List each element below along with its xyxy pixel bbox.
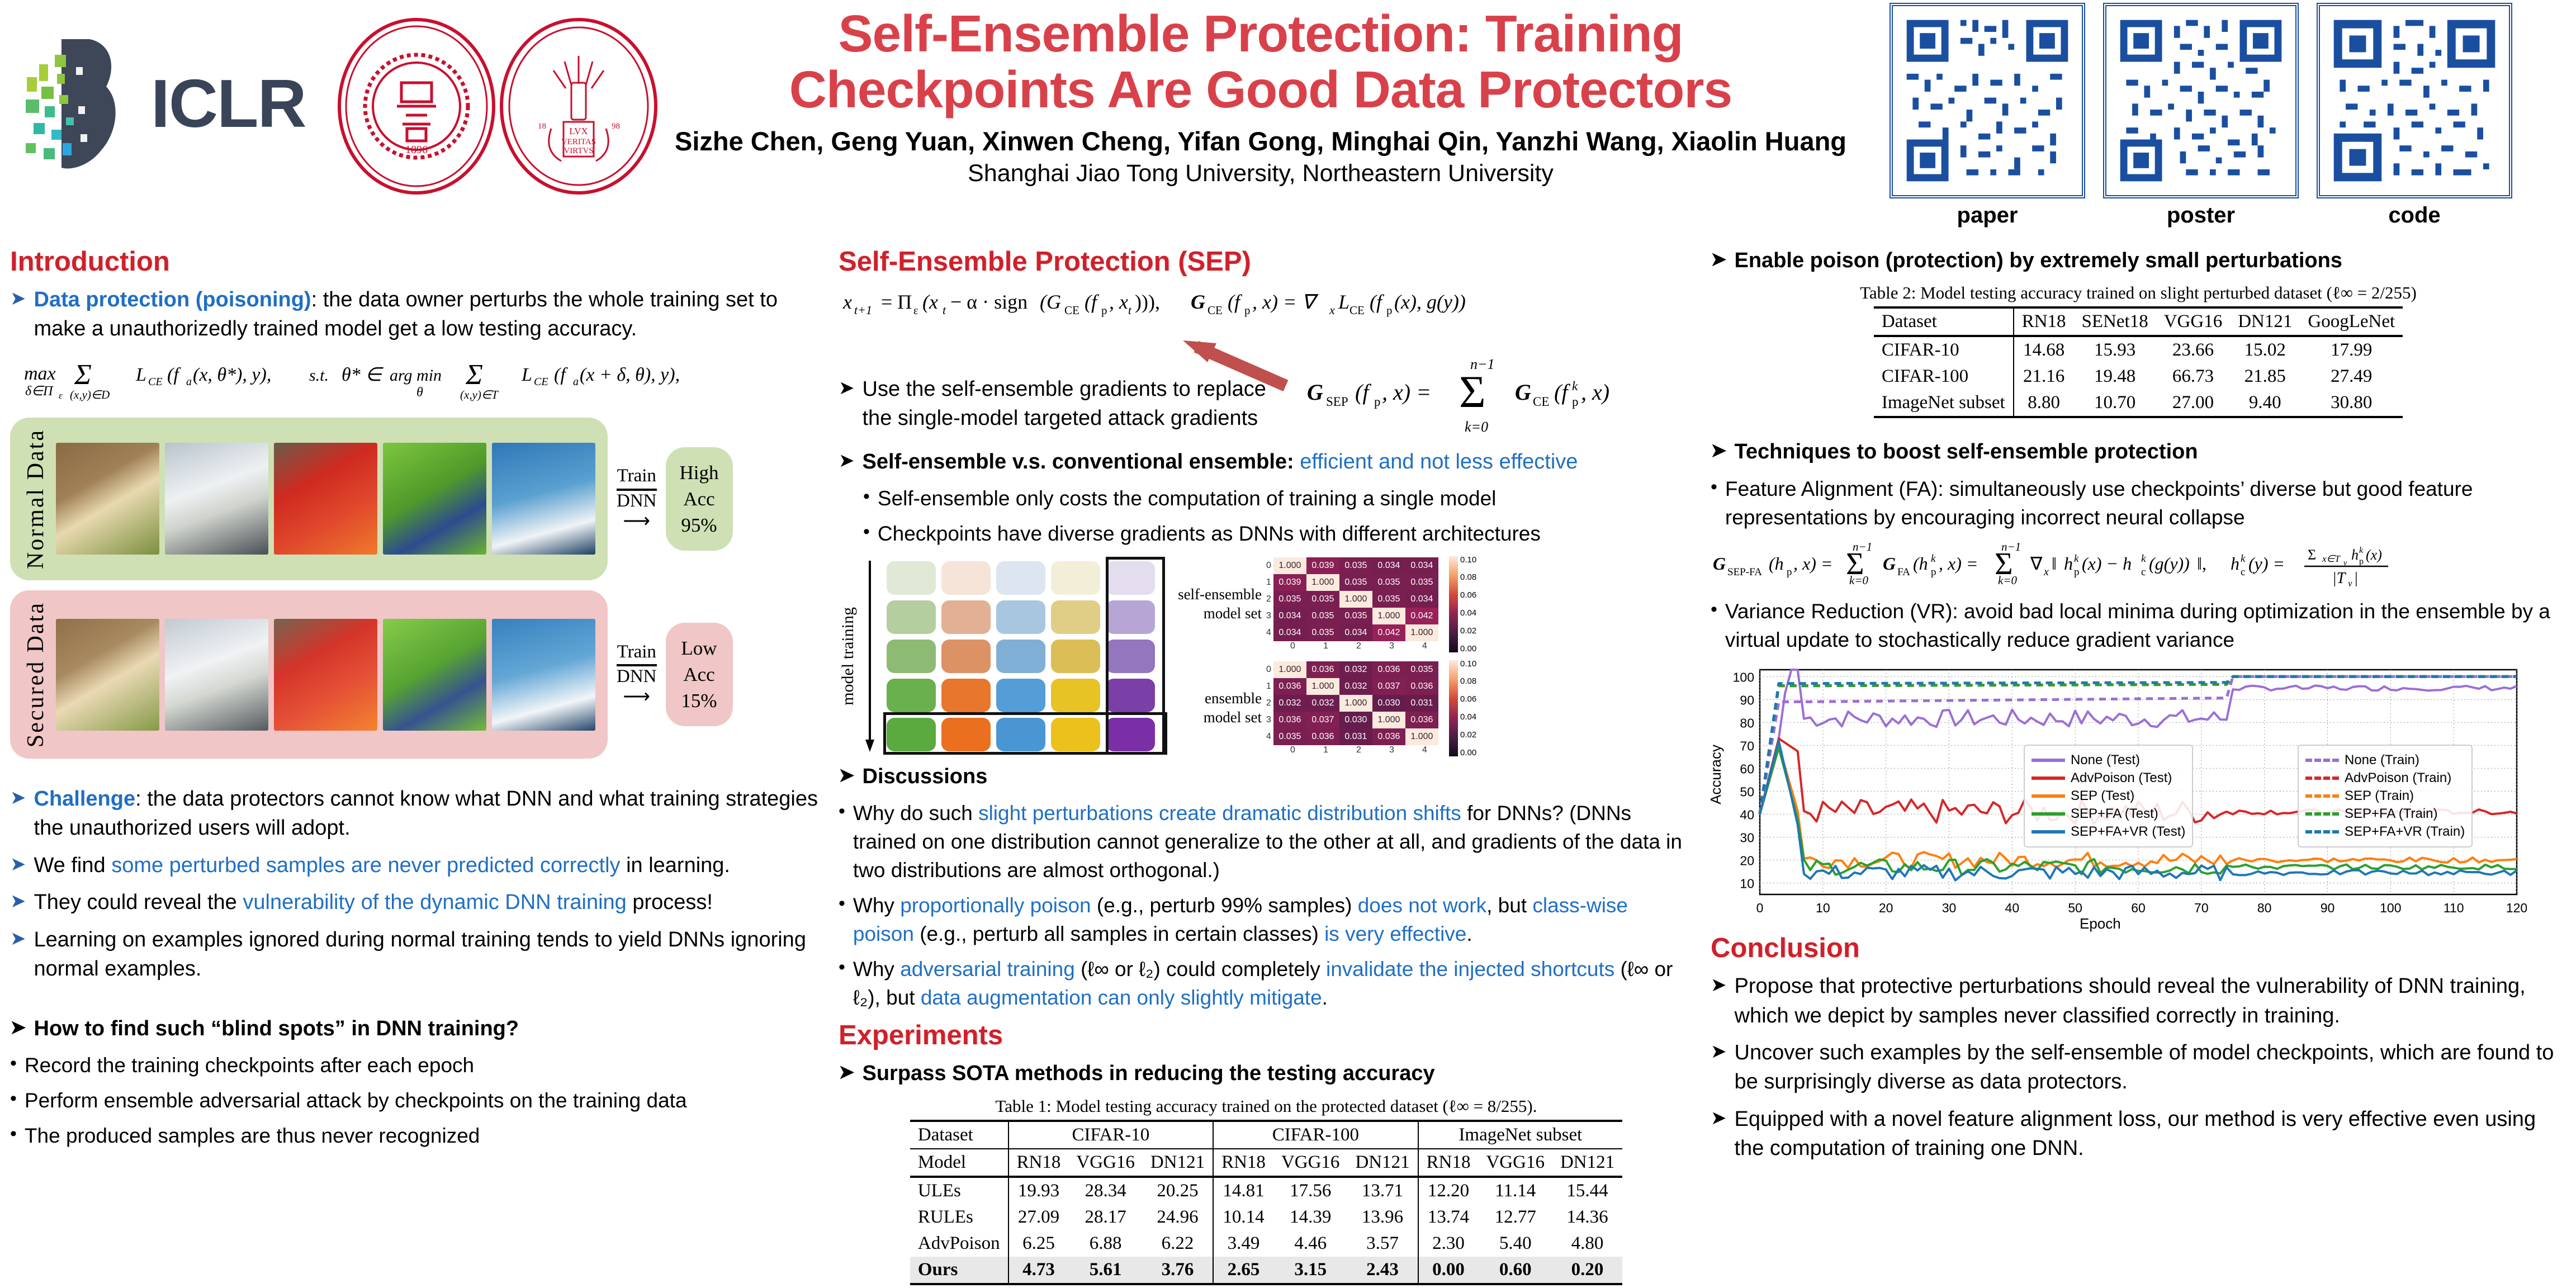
chart-xtick: 110	[2444, 901, 2464, 915]
legend-swatch	[2305, 830, 2339, 834]
table-cell: 66.73	[2156, 363, 2231, 390]
heatmap-2-colorbar-ticks: 0.100.080.060.040.020.00	[1460, 659, 1476, 757]
d2-blue1: proportionally poison	[900, 894, 1091, 917]
heatmap-cell: 0.032	[1339, 661, 1372, 678]
table-header-cell: DN121	[1552, 1149, 1622, 1177]
svg-text:k: k	[2074, 553, 2079, 565]
d3-blue3: data augmentation can only slightly miti…	[921, 986, 1322, 1009]
svg-text:(x,y)∈D: (x,y)∈D	[70, 388, 110, 401]
qr-code-poster[interactable]	[2103, 3, 2299, 198]
table-header-cell: RN18	[2014, 307, 2074, 336]
chart-xtick: 60	[2131, 901, 2146, 915]
heatmap-cell: 0.031	[1405, 695, 1438, 712]
table-cell: 27.49	[2300, 363, 2403, 390]
svg-text:, x): , x)	[1581, 380, 1609, 405]
heatmap-cell: 0.034	[1405, 557, 1438, 574]
vr-text: Variance Reduction (VR): avoid bad local…	[1725, 597, 2566, 654]
table-cell: 0.60	[1478, 1257, 1552, 1284]
conclusion-2: ➤ Uncover such examples by the self-ense…	[1711, 1038, 2566, 1097]
discussion-1: • Why do such slight perturbations creat…	[839, 799, 1694, 884]
table-cell: 23.66	[2156, 336, 2231, 363]
poster-header: ICLR 1896 LVX VERITAS VIRTVS 18 98 Self-…	[0, 0, 2576, 240]
chart-xtick: 70	[2194, 901, 2209, 915]
arrow-bullet-icon-9: ➤	[839, 762, 855, 789]
conclusion-1-text: Propose that protective perturbations sh…	[1735, 972, 2566, 1030]
svg-text:h: h	[2351, 547, 2359, 563]
thumb-truck-perturbed	[165, 619, 268, 731]
heatmap-ensemble-table: 1.0000.0360.0320.0360.0350.0361.0000.032…	[1273, 661, 1438, 745]
table-row: ImageNet subset8.8010.7027.009.4030.80	[1874, 390, 2403, 417]
heatmap-cell: 0.035	[1372, 591, 1405, 608]
bullet-self-vs-conventional: ➤ Self-ensemble v.s. conventional ensemb…	[839, 447, 1694, 476]
chart-xtick: 80	[2257, 901, 2272, 915]
svg-text:Σ: Σ	[74, 359, 92, 391]
heatmap-cell: 1.000	[1405, 624, 1438, 641]
dot-bullet-icon-7: •	[839, 891, 845, 916]
table-header-cell: ImageNet subset	[1418, 1121, 1623, 1149]
heatmap-row: 1.0000.0360.0320.0360.035	[1273, 661, 1438, 678]
chart-xtick: 90	[2321, 901, 2335, 915]
train-label-normal: Train	[617, 466, 657, 490]
svg-text:p: p	[1374, 395, 1381, 409]
use-gradients-text: Use the self-ensemble gradients to repla…	[863, 375, 1298, 433]
arrow-bullet-icon-5: ➤	[10, 925, 26, 953]
heatmap-cell: 0.034	[1339, 624, 1372, 641]
svg-text:VIRTVS: VIRTVS	[563, 146, 593, 155]
ck-cell	[887, 561, 936, 595]
acc-high-l1: High	[676, 460, 723, 486]
table-cell: 5.61	[1068, 1257, 1143, 1284]
table-cell: 13.96	[1347, 1204, 1418, 1230]
table-header-cell: GoogLeNet	[2300, 307, 2403, 336]
data-protection-term: Data protection (poisoning)	[34, 288, 311, 311]
heatmap-row: 0.0361.0000.0320.0370.036	[1273, 678, 1438, 695]
learning-text: Learning on examples ignored during norm…	[34, 925, 821, 984]
svg-text:p: p	[1931, 566, 1936, 578]
secured-data-row: Secured Data Train DNN ⟶ Low Acc 15%	[10, 590, 821, 759]
svg-text:CE: CE	[534, 376, 548, 388]
d2-pre: Why	[853, 894, 900, 917]
dot-bullet-icon-5: •	[863, 519, 870, 544]
svg-text:h: h	[2064, 553, 2073, 574]
table-row: RULEs27.0928.1724.9610.1414.3913.9613.74…	[910, 1204, 1622, 1230]
heatmap-row: 1.0000.0390.0350.0340.034	[1273, 557, 1438, 574]
table-cell: 15.44	[1552, 1177, 1622, 1204]
heatmap-1-colorbar-ticks: 0.100.080.060.040.020.00	[1460, 555, 1476, 654]
table-header-cell: DN121	[1143, 1149, 1213, 1177]
ck-cell	[1051, 561, 1100, 595]
qr-code-paper[interactable]	[1890, 3, 2085, 198]
heatmap-2-yticks: 01234	[1266, 661, 1271, 745]
blind-spots-question: How to find such “blind spots” in DNN tr…	[34, 1014, 519, 1043]
secured-data-thumbnails	[56, 619, 595, 731]
svg-text:(x: (x	[922, 291, 938, 313]
svg-text:a: a	[186, 376, 192, 388]
table-cell: 12.20	[1418, 1177, 1479, 1204]
table-cell: 5.40	[1478, 1230, 1552, 1257]
thumb-truck	[165, 443, 268, 555]
d2-mid1: (e.g., perturb 99% samples)	[1091, 894, 1358, 917]
legend-label: SEP+FA (Test)	[2071, 806, 2158, 822]
svg-text:98: 98	[612, 122, 620, 131]
table-header-cell: Dataset	[1874, 307, 2014, 336]
heatmap-2-colorbar	[1449, 660, 1458, 756]
table-2-slight-perturbed: DatasetRN18SENet18VGG16DN121GoogLeNetCIF…	[1874, 306, 2403, 418]
table2-caption: Table 2: Model testing accuracy trained …	[1711, 283, 2566, 303]
heatmap-row: 0.0350.0351.0000.0350.034	[1273, 591, 1438, 608]
chart-ytick: 70	[1740, 738, 1754, 753]
checkpoint-diversity-figure: model training self	[839, 555, 1694, 757]
d2-mid3: (e.g., perturb all samples in certain cl…	[914, 922, 1324, 945]
legend-swatch	[2032, 794, 2065, 798]
chart-ytick: 40	[1740, 807, 1754, 822]
qr-item-poster[interactable]: poster	[2103, 3, 2299, 228]
thumb-bird	[383, 443, 486, 555]
svg-text:L: L	[1338, 291, 1349, 313]
table-header-cell: RN18	[1418, 1149, 1479, 1177]
normal-data-row: Normal Data Train DNN ⟶ High Acc 95%	[10, 418, 821, 580]
normal-data-label: Normal Data	[22, 429, 49, 569]
svg-text:CE: CE	[1064, 304, 1079, 317]
thumb-deer-perturbed	[56, 619, 159, 731]
chart-xtick: 50	[2068, 901, 2082, 915]
table-cell: 2.30	[1418, 1230, 1479, 1257]
column-right: ➤ Enable poison (protection) by extremel…	[1711, 246, 2566, 1171]
iclr-wordmark: ICLR	[151, 64, 306, 143]
qr-icon-poster	[2114, 14, 2288, 187]
svg-text:a: a	[573, 376, 579, 388]
table-cell: 0.20	[1552, 1257, 1622, 1284]
table-row: CIFAR-10021.1619.4866.7321.8527.49	[1874, 363, 2403, 390]
ck-cell	[941, 640, 991, 673]
thumb-car	[274, 443, 377, 555]
svg-text:y: y	[2347, 578, 2352, 586]
svg-text:FA: FA	[1897, 566, 1910, 578]
heatmap-cell: 0.039	[1273, 574, 1306, 591]
table-cell: 24.96	[1143, 1204, 1213, 1230]
sjtu-seal-logo: 1896	[335, 17, 498, 196]
qr-code-code[interactable]	[2317, 3, 2512, 198]
svg-text:(f: (f	[167, 364, 181, 385]
ck-cell	[1051, 679, 1100, 712]
svg-text:t+1: t+1	[854, 303, 872, 317]
qr-item-paper[interactable]: paper	[1890, 3, 2085, 228]
chart-xlabel: Epoch	[2080, 915, 2121, 932]
train-label-secured: Train	[617, 642, 657, 666]
vs-bullet-2: • Checkpoints have diverse gradients as …	[863, 519, 1694, 548]
heatmap-cell: 0.031	[1339, 728, 1372, 745]
table-cell: 14.39	[1273, 1204, 1348, 1230]
vs-highlight: efficient and not less effective	[1294, 450, 1578, 473]
blind-bullet-2: • Perform ensemble adversarial attack by…	[10, 1086, 821, 1115]
svg-text:LVX: LVX	[569, 126, 588, 136]
svg-text:‖,: ‖,	[2197, 553, 2206, 574]
checkpoint-grid-panel: model training	[839, 555, 1159, 757]
heatmap-cell: 1.000	[1339, 591, 1372, 608]
svg-text:Σ: Σ	[465, 359, 483, 391]
chart-xtick: 0	[1756, 901, 1764, 915]
svg-text:(y) =: (y) =	[2248, 553, 2285, 574]
heatmap-cell: 0.036	[1306, 661, 1339, 678]
svg-text:(f: (f	[1228, 291, 1243, 313]
svg-text:18: 18	[538, 122, 546, 131]
svg-text:VERITAS: VERITAS	[561, 138, 596, 146]
title-block: Self-Ensemble Protection: Training Check…	[660, 6, 1862, 187]
bullet-surpass-sota: ➤ Surpass SOTA methods in reducing the t…	[839, 1059, 1694, 1088]
legend-swatch	[2032, 830, 2065, 834]
heatmap-cell: 0.034	[1405, 591, 1438, 608]
d3-pre: Why	[853, 958, 900, 981]
arrow-right-icon-2: ⟶	[617, 686, 657, 707]
svg-text:, x) = ∇: , x) = ∇	[1252, 291, 1319, 313]
affiliation: Shanghai Jiao Tong University, Northeast…	[660, 160, 1862, 187]
svg-text:L: L	[135, 364, 146, 385]
svg-text:CE: CE	[1207, 304, 1223, 317]
table-header-cell: DN121	[1347, 1149, 1418, 1177]
accuracy-badge-low: Low Acc 15%	[666, 623, 733, 727]
heatmap-cell: 0.035	[1273, 591, 1306, 608]
dot-bullet-icon-10: •	[1711, 597, 1717, 622]
ck-cell	[941, 600, 991, 634]
table-cell: 14.68	[2014, 336, 2074, 363]
svg-text:G: G	[1883, 553, 1896, 574]
legend-item: SEP+FA+VR (Train)	[2305, 824, 2465, 840]
gradient-similarity-heatmaps: self-ensemble model set 01234 1.0000.039…	[1169, 555, 1476, 757]
svg-text:(f: (f	[1554, 380, 1570, 405]
discussion-3: • Why adversarial training (ℓ∞ or ℓ₂) co…	[839, 955, 1694, 1012]
svg-text:x: x	[842, 291, 852, 313]
legend-label: None (Train)	[2345, 752, 2419, 768]
qr-item-code[interactable]: code	[2317, 3, 2512, 228]
heatmap-cell: 0.039	[1306, 557, 1339, 574]
normal-data-thumbnails	[56, 443, 595, 555]
heatmap-cell: 0.036	[1372, 661, 1405, 678]
table-cell: 9.40	[2230, 390, 2300, 417]
table-row-label: CIFAR-10	[1874, 336, 2014, 363]
ck-cell	[996, 679, 1045, 712]
northeastern-seal-logo: LVX VERITAS VIRTVS 18 98	[498, 17, 660, 196]
svg-text:G: G	[1713, 553, 1726, 574]
blind-b3: The produced samples are thus never reco…	[25, 1121, 480, 1150]
svg-text:δ∈Π: δ∈Π	[25, 384, 54, 399]
table-header-cell: VGG16	[1273, 1149, 1348, 1177]
bullet-use-gradients: ➤ Use the self-ensemble gradients to rep…	[839, 375, 1297, 433]
ck-cell	[887, 600, 936, 634]
table-row-label: AdvPoison	[910, 1230, 1008, 1257]
blind-b2: Perform ensemble adversarial attack by c…	[25, 1086, 687, 1115]
dot-bullet-icon-6: •	[839, 799, 845, 823]
legend-label: None (Test)	[2071, 752, 2140, 768]
svg-text:c: c	[2241, 566, 2245, 578]
svg-text:k: k	[2359, 546, 2364, 555]
table-cell: 6.25	[1008, 1230, 1069, 1257]
heatmap-row: 0.0391.0000.0350.0350.035	[1273, 574, 1438, 591]
heatmap-row: 0.0320.0321.0000.0300.031	[1273, 695, 1438, 712]
table-row: Ours4.735.613.762.653.152.430.000.600.20	[910, 1257, 1622, 1284]
table-cell: 2.65	[1213, 1257, 1273, 1284]
svg-text:|: |	[2355, 570, 2358, 586]
table-cell: 3.57	[1347, 1230, 1418, 1257]
svg-text:t: t	[1128, 304, 1132, 317]
challenge-desc: : the data protectors cannot know what D…	[34, 787, 818, 840]
svg-text:))),: ))),	[1135, 291, 1160, 313]
d3-mid1: (ℓ∞ or ℓ₂) could completely	[1075, 958, 1326, 981]
heatmap-cell: 0.034	[1372, 557, 1405, 574]
table-cell: 28.17	[1068, 1204, 1143, 1230]
blind-b1: Record the training checkpoints after ea…	[25, 1051, 474, 1079]
svg-text:k=0: k=0	[1465, 419, 1488, 435]
svg-text:p: p	[2359, 557, 2364, 566]
acc-high-l3: 95%	[676, 512, 723, 538]
heatmap-row: 0.0340.0350.0351.0000.042	[1273, 608, 1438, 624]
chart-ytick: 20	[1740, 854, 1754, 868]
svg-text:= Π: = Π	[881, 291, 912, 313]
discussions-heading: Discussions	[863, 762, 988, 791]
svg-text:p: p	[1386, 304, 1393, 317]
legend-swatch	[2305, 759, 2339, 762]
arrow-bullet-icon-4: ➤	[10, 888, 26, 915]
table-header-cell: Model	[910, 1149, 1008, 1177]
table-cell: 11.14	[1478, 1177, 1552, 1204]
dnn-label-normal: DNN	[617, 491, 657, 511]
table-header-cell: VGG16	[2156, 307, 2231, 336]
heatmap-cell: 0.036	[1372, 728, 1405, 745]
table-row-label: CIFAR-100	[1874, 363, 2014, 390]
hm1-label-l1: self-ensemble	[1169, 585, 1262, 604]
arrow-bullet-icon-3: ➤	[10, 851, 26, 878]
chart-xtick: 10	[1816, 901, 1830, 915]
svg-text:, x) =: , x) =	[1793, 553, 1832, 574]
qr-code-group: paper	[1890, 3, 2560, 228]
table-header-cell: VGG16	[1068, 1149, 1143, 1177]
svg-text:‖: ‖	[2052, 553, 2057, 574]
svg-text:p: p	[1101, 304, 1107, 317]
svg-text:p: p	[2074, 566, 2080, 578]
table-header-cell: SENet18	[2074, 307, 2156, 336]
legend-swatch	[2032, 812, 2065, 816]
table-cell: 13.71	[1347, 1177, 1418, 1204]
qr-icon-code	[2328, 14, 2501, 187]
heatmap-cell: 0.037	[1306, 712, 1339, 728]
conclusion-3-text: Equipped with a novel feature alignment …	[1735, 1105, 2566, 1163]
table-row-label: RULEs	[910, 1204, 1008, 1230]
svg-text:(x), g(y)): (x), g(y))	[1394, 291, 1466, 313]
ck-cell	[1051, 640, 1100, 673]
table-header-cell: RN18	[1008, 1149, 1069, 1177]
heatmap-cell: 0.036	[1273, 678, 1306, 695]
model-training-axis-label: model training	[839, 607, 858, 705]
bullet-learning: ➤ Learning on examples ignored during no…	[10, 925, 821, 984]
table-cell: 21.16	[2014, 363, 2074, 390]
arrow-bullet-icon-12: ➤	[1711, 437, 1727, 465]
reveal-post: process!	[627, 891, 713, 914]
bullet-discussions-head: ➤ Discussions	[839, 762, 1694, 791]
train-dnn-arrow-secured: Train DNN ⟶	[617, 642, 657, 708]
svg-text:(h: (h	[1769, 553, 1784, 574]
svg-text:ε: ε	[913, 305, 918, 317]
heatmap-cell: 0.035	[1306, 591, 1339, 608]
thumb-bird-perturbed	[383, 619, 486, 731]
d2-blue2: does not work	[1358, 894, 1486, 917]
svg-text:|T: |T	[2332, 570, 2347, 586]
dot-bullet-icon-8: •	[839, 955, 845, 979]
iclr-logo: ICLR	[22, 31, 313, 176]
svg-text:(x + δ, θ), y),: (x + δ, θ), y),	[580, 364, 680, 385]
ck-cell	[887, 679, 936, 712]
arrow-bullet-icon-7: ➤	[839, 375, 855, 402]
table-cell: 4.46	[1273, 1230, 1348, 1257]
table-row-label: ImageNet subset	[1874, 390, 2014, 417]
table-cell: 20.25	[1143, 1177, 1213, 1204]
svg-text:CE: CE	[1533, 395, 1549, 409]
chart-legend-test: None (Test)AdvPoison (Test)SEP (Test)SEP…	[2024, 745, 2193, 847]
dot-bullet-icon: •	[10, 1051, 17, 1076]
qr-caption-code: code	[2317, 203, 2512, 228]
svg-text:CE: CE	[148, 376, 163, 388]
heatmap-cell: 0.032	[1306, 695, 1339, 712]
table-cell: 14.36	[1552, 1204, 1622, 1230]
heatmap-cell: 1.000	[1273, 557, 1306, 574]
svg-text:ε: ε	[59, 390, 63, 401]
svg-text:(G: (G	[1040, 291, 1061, 313]
hm2-label-l1: ensemble	[1169, 689, 1262, 708]
legend-label: SEP+FA (Train)	[2345, 806, 2438, 822]
d3-blue1: adversarial training	[900, 958, 1075, 981]
svg-text:(h: (h	[1913, 553, 1928, 574]
find-post: in learning.	[621, 854, 730, 877]
heatmap-1-yticks: 01234	[1266, 557, 1271, 641]
chart-ytick: 90	[1740, 693, 1754, 707]
heatmap-row: 0.0340.0350.0340.0421.000	[1273, 624, 1438, 641]
svg-text:k: k	[1572, 379, 1578, 393]
svg-text:SEP: SEP	[1326, 395, 1348, 409]
table-cell: 12.77	[1478, 1204, 1552, 1230]
table-cell: 21.85	[2230, 363, 2300, 390]
bullet-we-find: ➤ We find some perturbed samples are nev…	[10, 851, 821, 880]
iclr-brain-icon	[22, 34, 151, 173]
secured-data-label: Secured Data	[22, 602, 49, 747]
heatmap-cell: 0.032	[1339, 678, 1372, 695]
conclusion-2-text: Uncover such examples by the self-ensemb…	[1735, 1038, 2566, 1097]
table-row: ModelRN18VGG16DN121RN18VGG16DN121RN18VGG…	[910, 1149, 1622, 1177]
d2-mid2: , but	[1486, 894, 1532, 917]
heatmap-cell: 0.042	[1405, 608, 1438, 624]
heatmap-cell: 1.000	[1372, 608, 1405, 624]
arrow-bullet-icon-10: ➤	[839, 1059, 855, 1086]
d1-highlight: slight perturbations create dramatic dis…	[978, 802, 1461, 825]
ck-cell	[996, 640, 1045, 673]
title-line-1: Self-Ensemble Protection: Training	[660, 6, 1862, 61]
chart-xtick: 100	[2380, 901, 2401, 915]
hm1-label-l2: model set	[1169, 604, 1262, 623]
surpass-text: Surpass SOTA methods in reducing the tes…	[863, 1059, 1435, 1088]
table-cell: 30.80	[2300, 390, 2403, 417]
svg-text:(x) − h: (x) − h	[2082, 553, 2132, 574]
bullet-techniques: ➤ Techniques to boost self-ensemble prot…	[1711, 437, 2566, 466]
heatmap-1-xticks: 01234	[1276, 641, 1441, 651]
find-pre: We find	[34, 854, 112, 877]
svg-text:p: p	[1787, 566, 1792, 578]
train-dnn-arrow-normal: Train DNN ⟶	[617, 466, 657, 532]
svg-text:θ: θ	[416, 385, 423, 400]
bullet-reveal: ➤ They could reveal the vulnerability of…	[10, 888, 821, 917]
column-middle: Self-Ensemble Protection (SEP) x t+1 = Π…	[839, 246, 1694, 1285]
legend-item: AdvPoison (Train)	[2305, 770, 2465, 786]
legend-swatch	[2305, 794, 2339, 798]
heatmap-cell: 0.035	[1405, 661, 1438, 678]
table-cell: 3.15	[1273, 1257, 1348, 1284]
heatmap-cell: 0.030	[1372, 695, 1405, 712]
